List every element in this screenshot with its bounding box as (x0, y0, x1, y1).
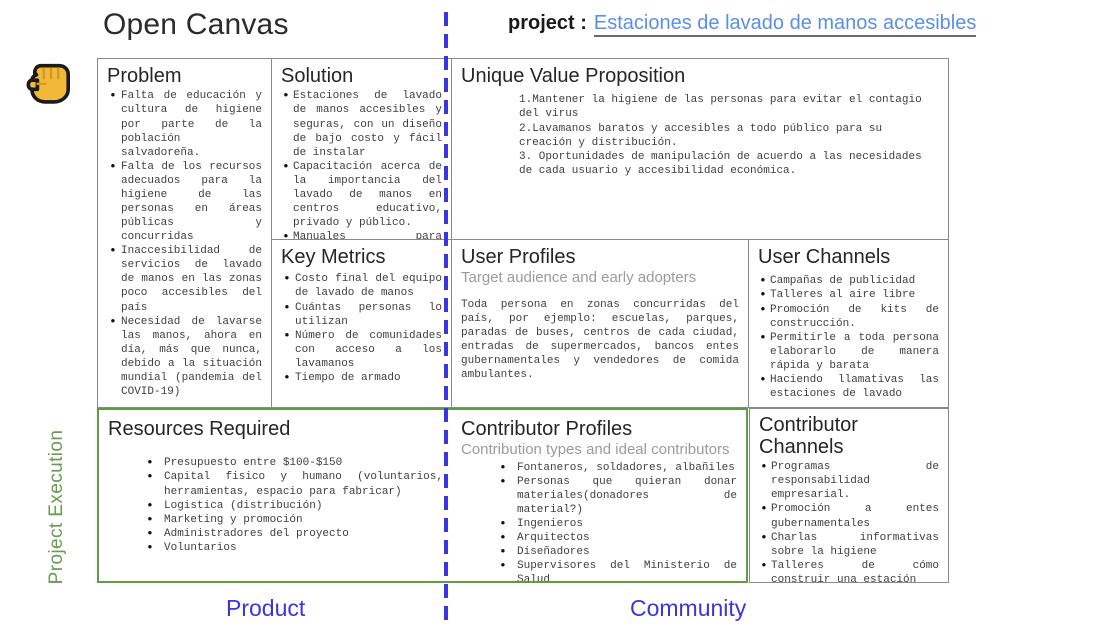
block-resources-required[interactable]: Resources Required Presupuesto entre $10… (97, 408, 452, 583)
list-item: Voluntarios (108, 541, 443, 555)
block-user-channels-title: User Channels (758, 246, 939, 268)
block-problem[interactable]: Problem Falta de educación y cultura de … (97, 58, 272, 408)
block-solution[interactable]: Solution Estaciones de lavado de manos a… (272, 58, 452, 240)
block-resources-required-title: Resources Required (108, 418, 443, 440)
list-item: Campañas de publicidad (758, 274, 939, 288)
list-item: Charlas informativas sobre la higiene (759, 531, 939, 559)
list-item: Logistica (distribución) (108, 499, 443, 513)
block-user-profiles-subtitle: Target audience and early adopters (461, 269, 739, 286)
axis-label-community: Community (630, 595, 746, 622)
product-community-divider (444, 12, 448, 628)
list-item: Promoción a entes gubernamentales (759, 502, 939, 530)
list-item: Diseñadores (461, 545, 737, 559)
page-title: Open Canvas (103, 8, 289, 42)
list-item: Permitirle a toda persona elaborarlo de … (758, 331, 939, 373)
block-uvp-title: Unique Value Proposition (461, 65, 939, 87)
list-item: Necesidad de lavarse las manos, ahora en… (107, 315, 262, 399)
block-uvp-list: 1.Mantener la higiene de las personas pa… (519, 93, 939, 177)
block-user-channels[interactable]: User Channels Campañas de publicidad Tal… (749, 240, 949, 408)
list-item: 3. Oportunidades de manipulación de acue… (519, 150, 939, 178)
project-name-value[interactable]: Estaciones de lavado de manos accesibles (594, 12, 976, 37)
list-item: 1.Mantener la higiene de las personas pa… (519, 93, 939, 121)
block-contributor-profiles-list: Fontaneros, soldadores, albañiles Person… (461, 461, 737, 583)
project-label: project : (508, 12, 587, 35)
axis-label-project-execution: Project Execution (46, 422, 68, 592)
block-solution-list: Estaciones de lavado de manos accesibles… (281, 89, 442, 240)
open-canvas-board: Open Canvas project : Estaciones de lava… (0, 0, 1117, 628)
list-item: Estaciones de lavado de manos accesibles… (281, 89, 442, 159)
block-contributor-channels[interactable]: Contributor Channels Programas de respon… (749, 408, 949, 583)
list-item: Número de comunidades con acceso a los l… (281, 329, 442, 371)
list-item: Marketing y promoción (108, 513, 443, 527)
list-item: Cuántas personas lo utilizan (281, 301, 442, 329)
block-solution-title: Solution (281, 65, 442, 87)
block-resources-required-list: Presupuesto entre $100-$150 Capital fisi… (108, 456, 443, 555)
list-item: Presupuesto entre $100-$150 (108, 456, 443, 470)
list-item: Arquitectos (461, 531, 737, 545)
block-contributor-profiles-subtitle: Contribution types and ideal contributor… (461, 441, 737, 458)
block-problem-title: Problem (107, 65, 262, 87)
block-key-metrics[interactable]: Key Metrics Costo final del equipo de la… (272, 240, 452, 408)
list-item: Falta de los recursos adecuados para la … (107, 160, 262, 244)
list-item: Tiempo de armado (281, 371, 442, 385)
list-item: Promoción de kits de construcción. (758, 303, 939, 331)
block-user-profiles-title: User Profiles (461, 246, 739, 268)
block-user-channels-list: Campañas de publicidad Talleres al aire … (758, 274, 939, 401)
list-item: Talleres de cómo construir una estación (759, 559, 939, 583)
list-item: Costo final del equipo de lavado de mano… (281, 272, 442, 300)
list-item: Talleres al aire libre (758, 288, 939, 302)
raised-fist-icon (22, 53, 80, 111)
list-item: Manuales para construirlo en cada comuni… (281, 230, 442, 240)
list-item: Administradores del proyecto (108, 527, 443, 541)
list-item: Fontaneros, soldadores, albañiles (461, 461, 737, 475)
axis-label-product: Product (226, 595, 305, 622)
list-item: Inaccesibilidad de servicios de lavado d… (107, 244, 262, 314)
list-item: Capital fisico y humano (voluntarios, he… (108, 470, 443, 498)
block-problem-list: Falta de educación y cultura de higiene … (107, 89, 262, 399)
block-user-profiles-body: Toda persona en zonas concurridas del pa… (461, 298, 739, 382)
list-item: Programas de responsabilidad empresarial… (759, 460, 939, 502)
list-item: Ingenieros (461, 517, 737, 531)
list-item: 2.Lavamanos baratos y accesibles a todo … (519, 122, 939, 150)
block-unique-value-proposition[interactable]: Unique Value Proposition 1.Mantener la h… (452, 58, 949, 240)
block-key-metrics-list: Costo final del equipo de lavado de mano… (281, 272, 442, 385)
block-contributor-profiles[interactable]: Contributor Profiles Contribution types … (452, 408, 748, 583)
block-contributor-channels-list: Programas de responsabilidad empresarial… (759, 460, 939, 583)
block-contributor-profiles-title: Contributor Profiles (461, 418, 737, 440)
block-key-metrics-title: Key Metrics (281, 246, 442, 268)
block-contributor-channels-title: Contributor Channels (759, 415, 879, 458)
list-item: Personas que quieran donar materiales(do… (461, 475, 737, 517)
list-item: Supervisores del Ministerio de Salud (461, 559, 737, 583)
list-item: Falta de educación y cultura de higiene … (107, 89, 262, 159)
list-item: Capacitación acerca de la importancia de… (281, 160, 442, 230)
project-field: project : Estaciones de lavado de manos … (508, 12, 976, 37)
block-user-profiles[interactable]: User Profiles Target audience and early … (452, 240, 749, 408)
list-item: Haciendo llamativas las estaciones de la… (758, 373, 939, 401)
